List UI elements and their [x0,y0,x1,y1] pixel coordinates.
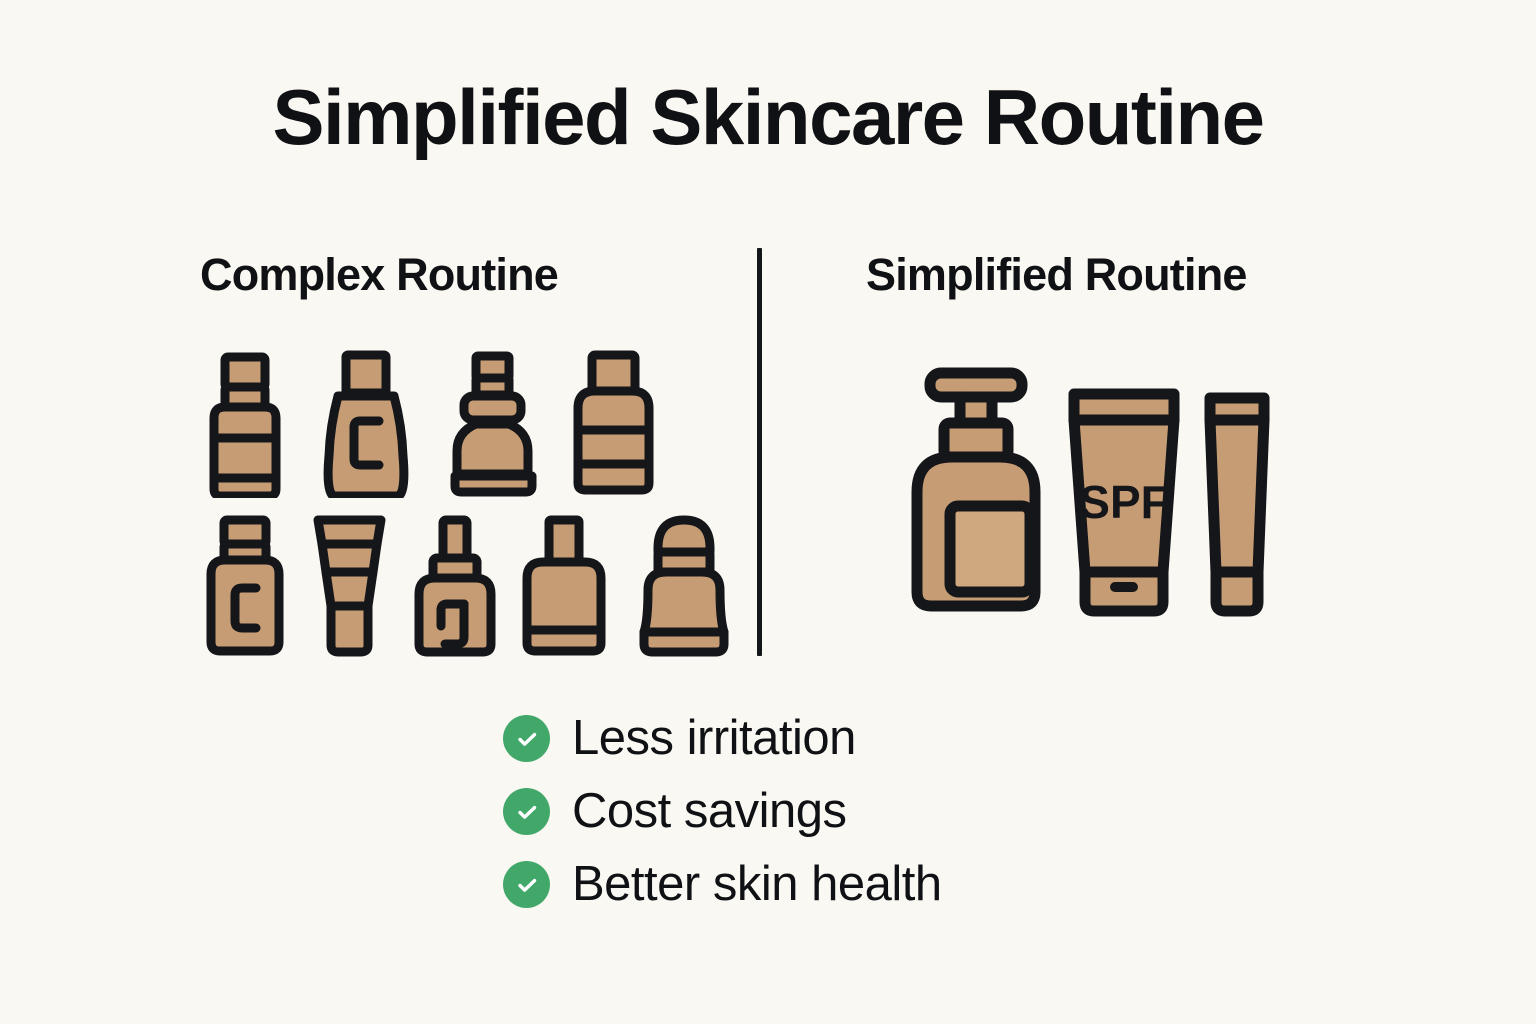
benefit-item: Less irritation [503,714,942,763]
benefit-item: Cost savings [503,787,942,836]
column-divider [757,248,762,656]
complex-routine-products [196,348,696,658]
treatment-bottle [560,348,680,503]
spf-tube: SPF [1060,386,1188,623]
vitamin-c-bottle [196,512,298,665]
oil-bottle [628,512,740,665]
spf-label: SPF [1079,476,1168,528]
check-circle-icon [503,715,550,762]
lotion-bottle [510,512,628,665]
simplified-routine-products: SPF [906,366,1274,623]
benefit-item: Better skin health [503,860,942,909]
cleanser-bottle [308,348,428,503]
benefits-list: Less irritation Cost savings Better skin… [503,714,942,909]
complex-row-1 [196,348,680,503]
serum-dropper [402,512,510,665]
infographic-canvas: Simplified Skincare Routine Complex Rout… [0,0,1536,1024]
benefit-label: Less irritation [572,714,856,763]
complex-routine-heading: Complex Routine [200,252,558,297]
exfoliant-tube [298,512,402,665]
simplified-routine-heading: Simplified Routine [866,252,1247,297]
page-title: Simplified Skincare Routine [0,78,1536,156]
check-circle-icon [503,788,550,835]
benefit-label: Cost savings [572,787,847,836]
moisturizer-tube [1200,390,1274,623]
benefit-label: Better skin health [572,860,942,909]
complex-row-2 [196,512,740,665]
check-circle-icon [503,861,550,908]
pump-cleanser [906,366,1048,623]
toner-bottle [196,348,308,503]
essence-bottle [428,348,560,503]
